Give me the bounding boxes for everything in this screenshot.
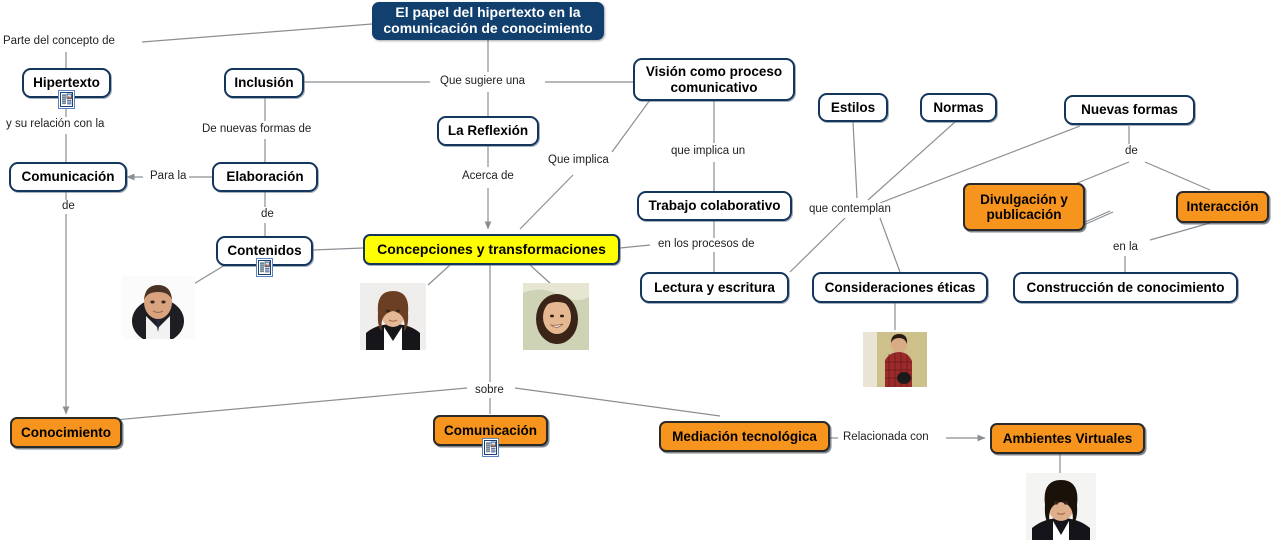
node-comunicacion-1[interactable]: Comunicación xyxy=(9,162,127,192)
node-label: Visión como proceso comunicativo xyxy=(643,64,785,94)
node-nuevas-formas[interactable]: Nuevas formas xyxy=(1064,95,1195,125)
node-normas[interactable]: Normas xyxy=(920,93,997,122)
edge-label-text: de xyxy=(261,208,274,220)
node-construccion-conocimiento[interactable]: Construcción de conocimiento xyxy=(1013,272,1238,303)
edge-label-de-nuevas-formas-de: De nuevas formas de xyxy=(199,123,314,137)
edge-label-que-contemplan: que contemplan xyxy=(806,203,894,217)
node-label: Nuevas formas xyxy=(1081,102,1178,117)
node-ambientes-virtuales[interactable]: Ambientes Virtuales xyxy=(990,423,1145,454)
edge-label-text: de xyxy=(1125,145,1138,157)
edge-label-text: que contemplan xyxy=(809,203,891,215)
document-resource-icon[interactable] xyxy=(256,258,273,277)
node-divulgacion-publicacion[interactable]: Divulgación y publicación xyxy=(963,183,1085,231)
node-label: Normas xyxy=(933,100,983,115)
edge-label-parte-del-concepto-de: Parte del concepto de xyxy=(0,35,118,49)
node-label: Contenidos xyxy=(227,243,301,258)
node-la-reflexion[interactable]: La Reflexión xyxy=(437,116,539,146)
node-consideraciones-eticas[interactable]: Consideraciones éticas xyxy=(812,272,988,303)
node-estilos[interactable]: Estilos xyxy=(818,93,888,122)
edge-label-de-comunicacion: de xyxy=(59,200,78,214)
edge-label-de-nuevas-formas: de xyxy=(1122,145,1141,159)
edge-label-text: en la xyxy=(1113,241,1138,253)
node-label: Mediación tecnológica xyxy=(672,429,817,444)
edge-label-text: Relacionada con xyxy=(843,431,929,443)
edge-label-text: sobre xyxy=(475,384,504,396)
node-trabajo-colaborativo[interactable]: Trabajo colaborativo xyxy=(637,191,792,221)
edge-label-y-su-relacion-con-la: y su relación con la xyxy=(3,118,107,132)
photo-contenidos[interactable] xyxy=(122,276,195,339)
edge-label-que-implica-un: que implica un xyxy=(668,145,748,159)
document-resource-icon[interactable] xyxy=(58,90,75,109)
node-label: Divulgación y publicación xyxy=(973,192,1075,222)
edge-label-en-la: en la xyxy=(1110,241,1141,255)
edge-label-text: y su relación con la xyxy=(6,118,104,130)
edge-label-text: Acerca de xyxy=(462,170,514,182)
edge-label-que-sugiere-una: Que sugiere una xyxy=(437,75,528,89)
edge-label-acerca-de: Acerca de xyxy=(459,170,517,184)
edge-label-que-implica: Que implica xyxy=(545,154,612,168)
node-vision-proceso-comunicativo[interactable]: Visión como proceso comunicativo xyxy=(633,58,795,101)
edge-label-de-elaboracion: de xyxy=(258,208,277,222)
node-label: Concepciones y transformaciones xyxy=(377,242,606,258)
concept-map-canvas: El papel del hipertexto en la comunicaci… xyxy=(0,0,1272,540)
node-label: Consideraciones éticas xyxy=(825,280,976,295)
node-label: Hipertexto xyxy=(33,75,100,90)
node-elaboracion[interactable]: Elaboración xyxy=(212,162,318,192)
edge-label-text: Que implica xyxy=(548,154,609,166)
edge-label-para-la: Para la xyxy=(147,170,189,184)
edge-label-relacionada-con: Relacionada con xyxy=(840,431,932,445)
edge-label-en-los-procesos-de: en los procesos de xyxy=(655,238,758,252)
node-label: Lectura y escritura xyxy=(654,280,775,295)
node-inclusion[interactable]: Inclusión xyxy=(224,68,304,98)
edge-label-text: de xyxy=(62,200,75,212)
edge-label-text: que implica un xyxy=(671,145,745,157)
edge-label-text: Para la xyxy=(150,170,186,182)
node-label: Conocimiento xyxy=(21,425,111,440)
node-label: Estilos xyxy=(831,100,875,115)
node-interaccion[interactable]: Interacción xyxy=(1176,191,1269,223)
edge-label-text: Que sugiere una xyxy=(440,75,525,87)
node-label: Interacción xyxy=(1186,199,1258,214)
node-label: Trabajo colaborativo xyxy=(648,198,780,213)
photo-consideraciones[interactable] xyxy=(863,332,927,387)
edge-label-text: De nuevas formas de xyxy=(202,123,311,135)
document-resource-icon[interactable] xyxy=(482,438,499,457)
edge-label-text: en los procesos de xyxy=(658,238,755,250)
node-label: Comunicación xyxy=(444,423,537,438)
node-label: Comunicación xyxy=(21,169,114,184)
node-titulo[interactable]: El papel del hipertexto en la comunicaci… xyxy=(372,2,604,40)
edge-label-sobre: sobre xyxy=(472,384,507,398)
node-label: Construcción de conocimiento xyxy=(1026,280,1224,295)
photo-concepciones-1[interactable] xyxy=(360,283,426,350)
node-label: Elaboración xyxy=(226,169,303,184)
node-conocimiento[interactable]: Conocimiento xyxy=(10,417,122,448)
photo-ambientes[interactable] xyxy=(1026,473,1096,540)
photo-concepciones-2[interactable] xyxy=(523,283,589,350)
node-mediacion-tecnologica[interactable]: Mediación tecnológica xyxy=(659,421,830,452)
edge-label-text: Parte del concepto de xyxy=(3,35,115,47)
node-label: El papel del hipertexto en la comunicaci… xyxy=(382,5,594,36)
node-label: Inclusión xyxy=(234,75,293,90)
node-lectura-escritura[interactable]: Lectura y escritura xyxy=(640,272,789,303)
node-label: La Reflexión xyxy=(448,123,528,138)
node-label: Ambientes Virtuales xyxy=(1003,431,1133,446)
node-concepciones-transformaciones[interactable]: Concepciones y transformaciones xyxy=(363,234,620,265)
